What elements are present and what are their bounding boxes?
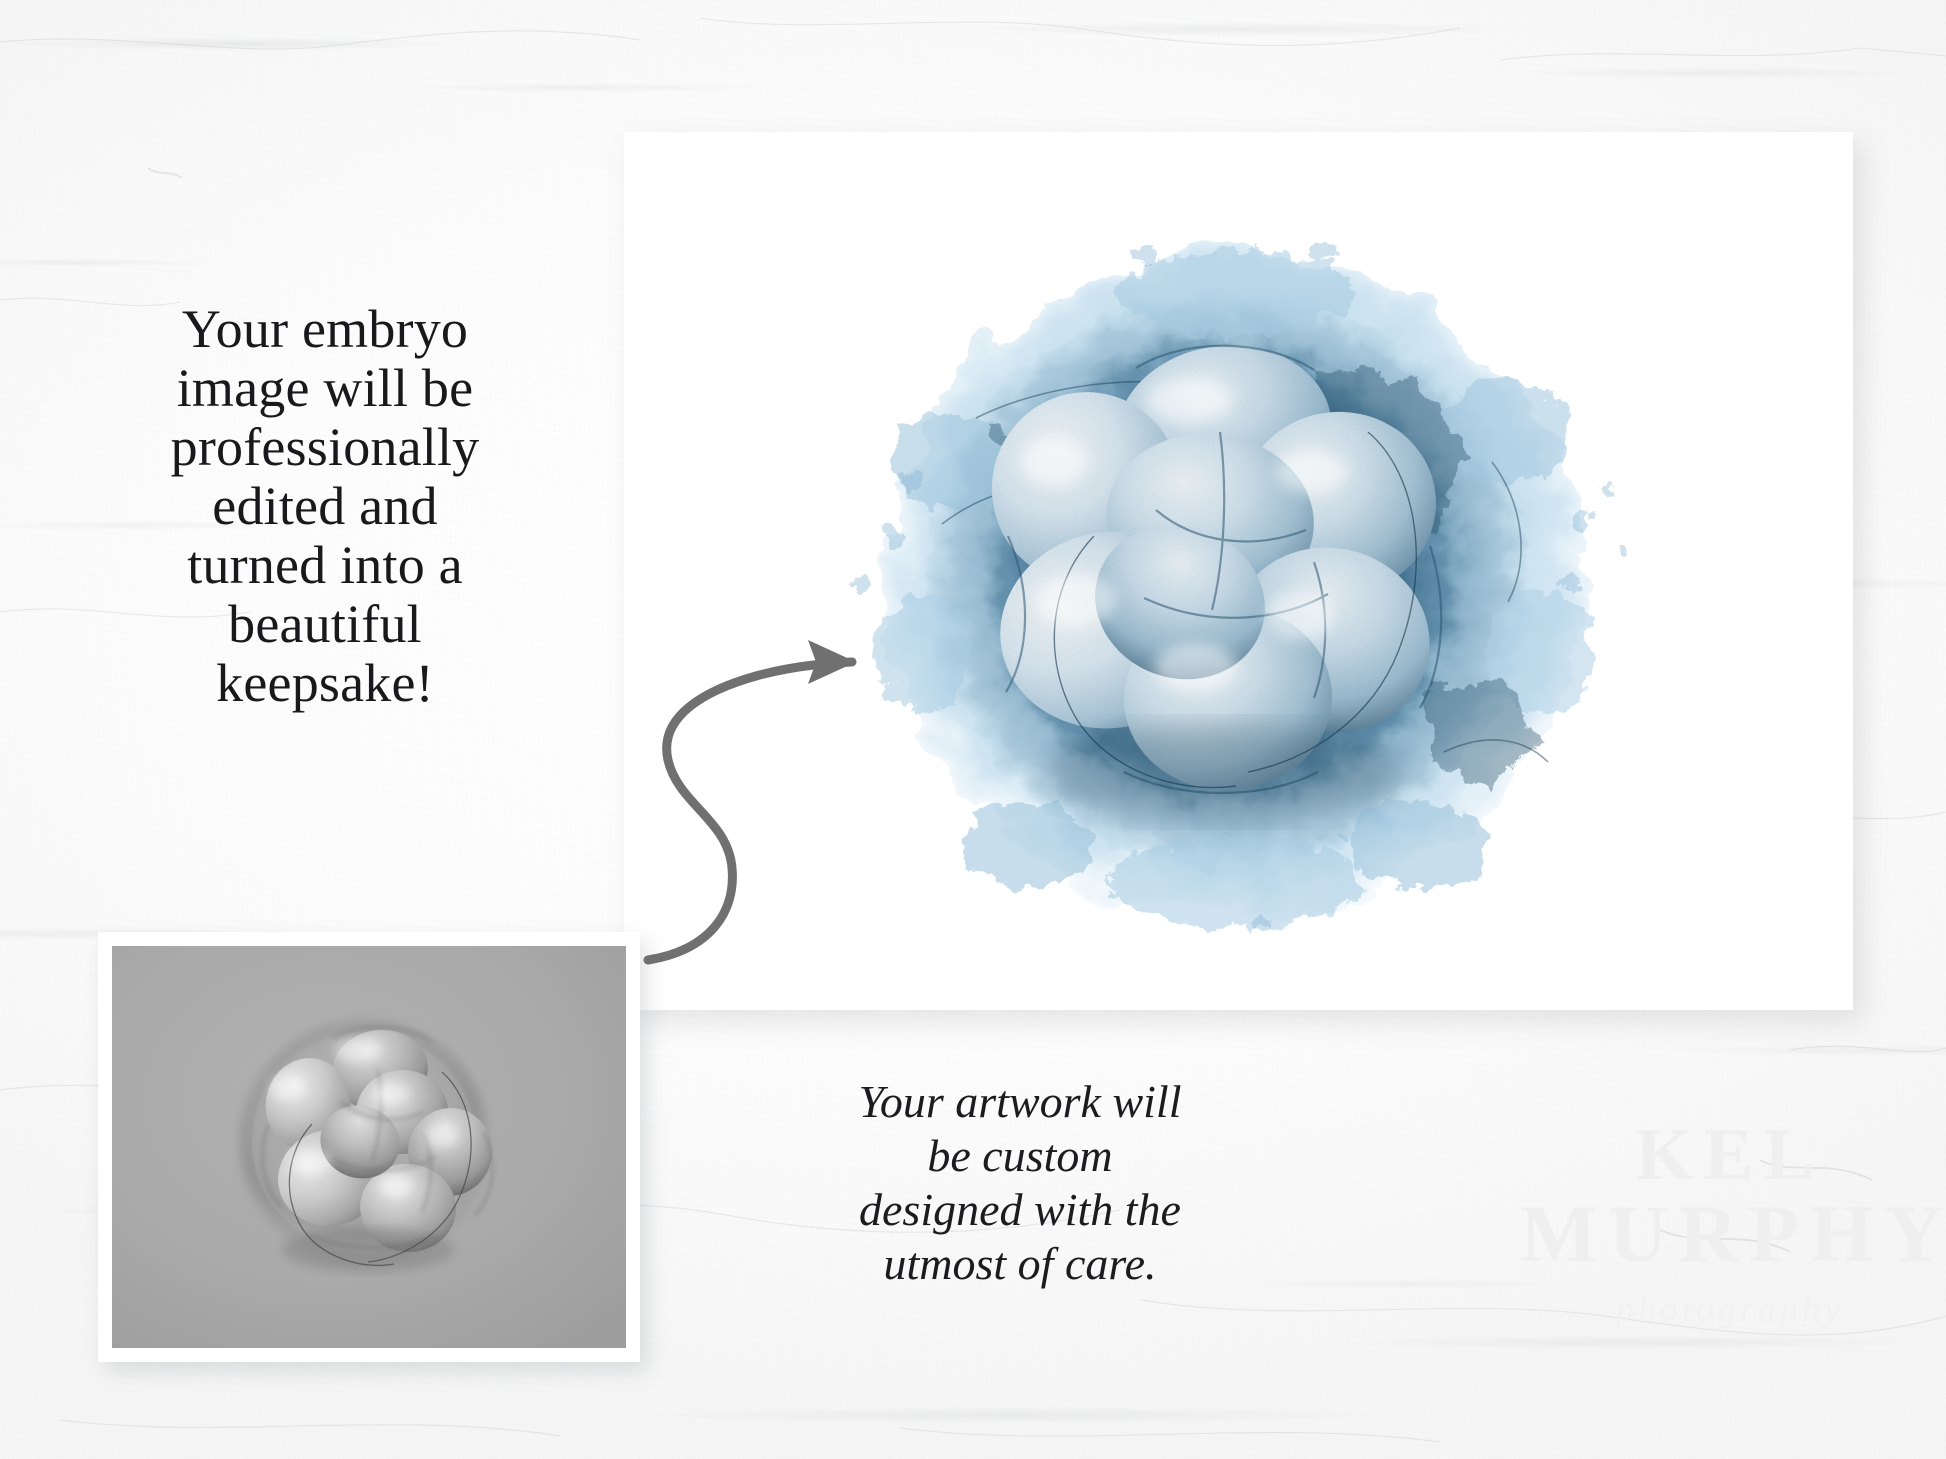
watermark-line-photography: photography (1520, 1288, 1940, 1330)
artwork-card[interactable] (624, 132, 1853, 1010)
headline-line-5: turned into a (70, 536, 580, 595)
canvas-stage: Your embryo image will be professionally… (0, 0, 1946, 1459)
watermark-line-murphy: MURPHY (1520, 1195, 1940, 1274)
subtext-line-4: utmost of care. (740, 1237, 1300, 1291)
subtext-line-2: be custom (740, 1129, 1300, 1183)
headline-line-2: image will be (70, 359, 580, 418)
headline-line-7: keepsake! (70, 654, 580, 713)
headline-line-3: professionally (70, 418, 580, 477)
watermark-logo: KEL MURPHY photography (1520, 1120, 1940, 1350)
headline-text: Your embryo image will be professionally… (70, 300, 580, 713)
headline-line-4: edited and (70, 477, 580, 536)
original-photo-inner (112, 946, 626, 1348)
original-embryo-photo[interactable] (98, 932, 640, 1362)
watermark-line-kel: KEL (1520, 1120, 1940, 1191)
subtext: Your artwork will be custom designed wit… (740, 1075, 1300, 1291)
subtext-line-1: Your artwork will (740, 1075, 1300, 1129)
headline-line-6: beautiful (70, 595, 580, 654)
subtext-line-3: designed with the (740, 1183, 1300, 1237)
artwork-image (624, 132, 1853, 1010)
headline-line-1: Your embryo (70, 300, 580, 359)
original-embryo-image (112, 946, 626, 1348)
